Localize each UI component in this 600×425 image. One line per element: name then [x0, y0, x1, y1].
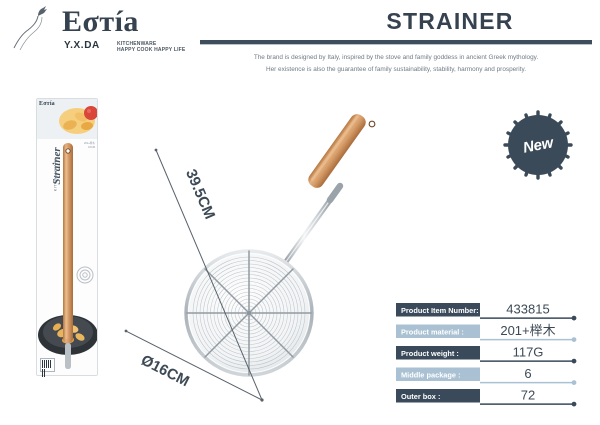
spec-row-value: 117G [513, 345, 544, 360]
spec-row-value: 433815 [506, 302, 549, 317]
new-badge-text-wrap: New [505, 112, 571, 178]
page-title: STRAINER [330, 8, 570, 35]
spec-row-value: 6 [524, 366, 531, 381]
spec-row-dot [572, 337, 577, 342]
package-barcode [40, 358, 55, 372]
brand-description: The brand is designed by Italy, inspired… [200, 52, 592, 76]
package-product-word-sub: KITCHENWARE [53, 140, 58, 210]
brand-name: Eσтía [62, 7, 139, 37]
spec-row-value: 72 [521, 388, 535, 403]
package-product-handle [63, 143, 73, 369]
new-badge-label: New [499, 106, 576, 183]
package-card [36, 98, 98, 376]
brand-logo: Eσтía Y.X.DA KITCHENWAREHAPPY COOK HAPPY… [14, 4, 204, 60]
spec-row-label: Outer box : [401, 392, 440, 401]
header-divider [200, 40, 592, 44]
brand-sub: Y.X.DA [64, 40, 100, 51]
brand-description-line-2: Her existence is also the guarantee of f… [200, 64, 592, 76]
brand-sub2: KITCHENWAREHAPPY COOK HAPPY LIFE [117, 41, 185, 54]
spec-row-value: 201+榉木 [500, 323, 555, 338]
spec-row-dot [572, 402, 577, 407]
spec-row-label: Product material : [401, 327, 464, 336]
spec-row-dot [572, 380, 577, 385]
spec-row-dot [572, 359, 577, 364]
spec-row-label: Product weight : [401, 349, 459, 358]
spec-row-label: Middle package : [401, 370, 461, 379]
brand-description-line-1: The brand is designed by Italy, inspired… [200, 52, 592, 64]
spec-row-label: Product Item Number: [401, 306, 479, 315]
package-artwork [37, 99, 98, 376]
package-logo: Eσтía [39, 101, 55, 107]
spec-row-dot [572, 316, 577, 321]
retail-package: Eσтía Strainer KITCHENWARE 201+榉木16CM [36, 98, 98, 376]
package-spec-note: 201+榉木16CM [79, 142, 95, 150]
